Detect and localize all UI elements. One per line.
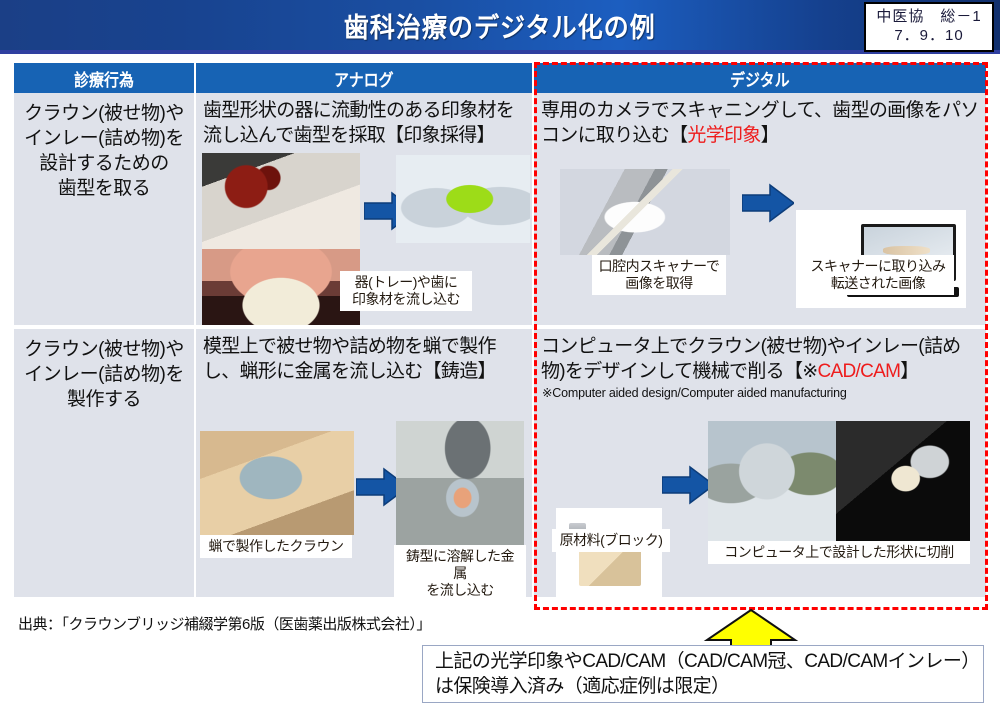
source-citation: 出典：「クラウンブリッジ補綴学第6版（医歯薬出版株式会社）」 — [18, 613, 431, 634]
photo-intraoral-scanner — [560, 169, 730, 255]
cell-digital-1: 専用のカメラでスキャニングして、歯型の画像をパソコンに取り込む【光学印象】 口腔… — [534, 93, 986, 325]
photo-cadcam-block — [556, 508, 662, 600]
column-header-digital: デジタル — [534, 63, 986, 93]
cell-analog-1: 歯型形状の器に流動性のある印象材を流し込んで歯型を採取【印象採得】 器(トレー)… — [196, 93, 534, 325]
caption-analog-2-a: 蝋で製作したクラウン — [200, 535, 352, 558]
photo-mouth-impression — [202, 249, 360, 325]
photo-green-impression — [396, 155, 530, 243]
cell-analog-2: 模型上で被せ物や詰め物を蝋で製作し、蝋形に金属を流し込む【鋳造】 蝋で製作したク… — [196, 329, 534, 597]
arrow-right-icon-digital-1 — [742, 183, 794, 223]
caption-analog-2-b: 鋳型に溶解した金属 を流し込む — [394, 545, 526, 602]
slide-title-bar: 歯科治療のデジタル化の例 — [0, 0, 1000, 50]
cell-digital-2: コンピュータ上でクラウン(被せ物)やインレー(詰め物)をデザインして機械で削る【… — [534, 329, 986, 597]
page-title: 歯科治療のデジタル化の例 — [344, 6, 656, 45]
caption-digital-1-b: スキャナーに取り込み 転送された画像 — [802, 255, 954, 295]
digital-text-1-highlight: 光学印象 — [687, 125, 760, 146]
digital-text-1-after: 】 — [761, 125, 779, 146]
slide-canvas: 歯科治療のデジタル化の例 中医協 総－1 7．9．10 診療行為 アナログ デジ… — [0, 0, 1000, 708]
caption-digital-2-a: 原材料(ブロック) — [552, 529, 670, 552]
photo-milling-machine — [836, 421, 970, 541]
insurance-callout-text: 上記の光学印象やCAD/CAM（CAD/CAM冠、CAD/CAMインレー）は保険… — [423, 649, 983, 699]
caption-analog-1-a: 器(トレー)や歯に 印象材を流し込む — [340, 271, 472, 311]
comparison-table: 診療行為 アナログ デジタル クラウン(被せ物)や インレー(詰め物)を 設計す… — [14, 63, 986, 597]
caption-digital-1-a: 口腔内スキャナーで 画像を取得 — [592, 255, 726, 295]
digital-footnote-2: ※Computer aided design/Computer aided ma… — [534, 384, 986, 400]
procedure-text-2: クラウン(被せ物)や インレー(詰め物)を 製作する — [14, 329, 194, 412]
arrow-right-icon-digital-2 — [662, 465, 714, 505]
analog-text-2: 模型上で被せ物や詰め物を蝋で製作し、蝋形に金属を流し込む【鋳造】 — [196, 329, 532, 384]
table-row-fabrication: クラウン(被せ物)や インレー(詰め物)を 製作する 模型上で被せ物や詰め物を蝋… — [14, 329, 986, 597]
column-header-procedure: 診療行為 — [14, 63, 196, 93]
photo-metal-casting — [396, 421, 524, 545]
photo-digital-model — [708, 421, 836, 541]
document-stamp: 中医協 総－1 7．9．10 — [864, 2, 994, 52]
digital-text-1: 専用のカメラでスキャニングして、歯型の画像をパソコンに取り込む【光学印象】 — [534, 93, 986, 148]
stamp-line-1: 中医協 総－1 — [876, 8, 981, 27]
column-header-analog-label: アナログ — [334, 66, 394, 91]
photo-wax-crown — [200, 431, 354, 535]
cell-procedure-1: クラウン(被せ物)や インレー(詰め物)を 設計するための 歯型を取る — [14, 93, 196, 325]
digital-text-2-after: 】 — [900, 361, 918, 382]
digital-text-2: コンピュータ上でクラウン(被せ物)やインレー(詰め物)をデザインして機械で削る【… — [534, 329, 986, 384]
arrow-up-icon-callout — [703, 608, 799, 650]
column-header-digital-label: デジタル — [730, 66, 790, 91]
insurance-callout-box: 上記の光学印象やCAD/CAM（CAD/CAM冠、CAD/CAMインレー）は保険… — [422, 645, 984, 703]
column-header-procedure-label: 診療行為 — [74, 66, 134, 91]
table-header-row: 診療行為 アナログ デジタル — [14, 63, 986, 93]
monitor-tooth-scan — [883, 246, 929, 254]
digital-text-2-highlight: CAD/CAM — [817, 361, 900, 382]
column-header-analog: アナログ — [196, 63, 534, 93]
title-underline — [0, 50, 1000, 54]
cell-procedure-2: クラウン(被せ物)や インレー(詰め物)を 製作する — [14, 329, 196, 597]
table-row-impression: クラウン(被せ物)や インレー(詰め物)を 設計するための 歯型を取る 歯型形状… — [14, 93, 986, 325]
caption-digital-2-b: コンピュータ上で設計した形状に切削 — [708, 541, 970, 564]
procedure-text-1: クラウン(被せ物)や インレー(詰め物)を 設計するための 歯型を取る — [14, 93, 194, 201]
stamp-line-2: 7．9．10 — [894, 27, 963, 46]
analog-text-1: 歯型形状の器に流動性のある印象材を流し込んで歯型を採取【印象採得】 — [196, 93, 532, 148]
photo-impression-tray — [202, 153, 360, 249]
